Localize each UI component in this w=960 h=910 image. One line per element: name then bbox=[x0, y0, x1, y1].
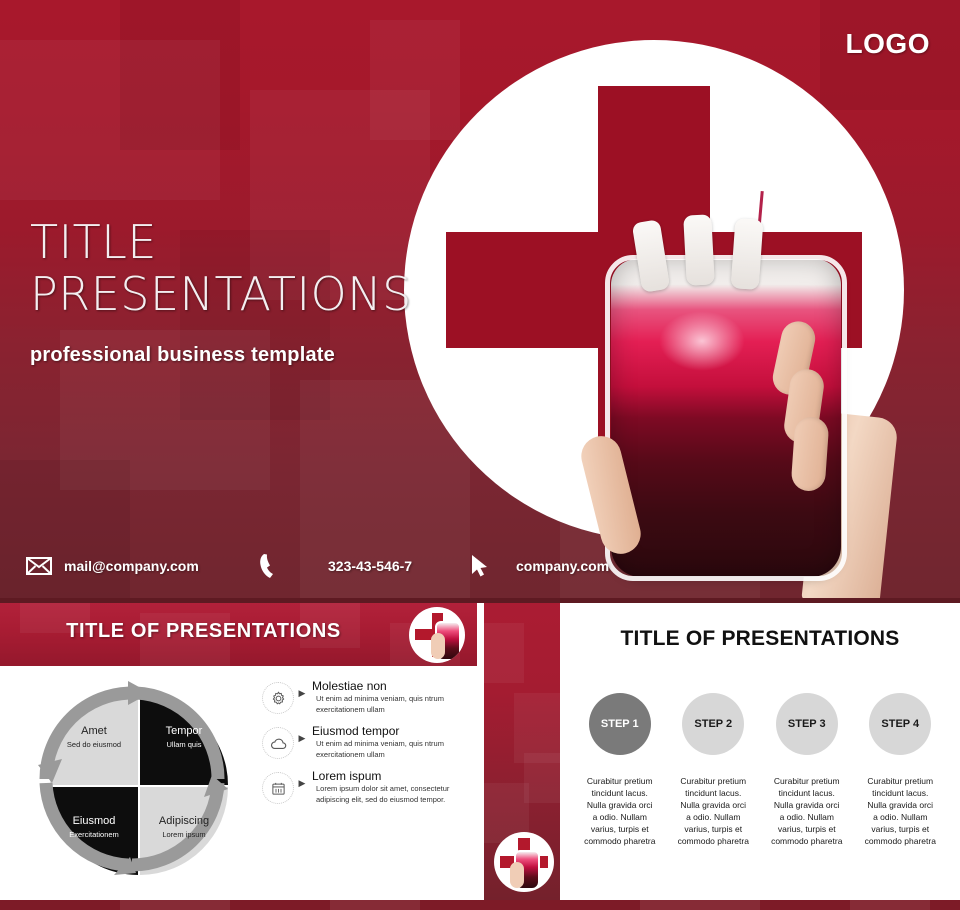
arrow-icon: ▶ bbox=[294, 778, 310, 789]
contact-phone[interactable]: 323-43-546-7 bbox=[258, 545, 412, 587]
contact-website[interactable]: company.com bbox=[470, 545, 609, 587]
step-badge: STEP 2 bbox=[682, 693, 744, 755]
arrow-icon: ▶ bbox=[294, 688, 310, 699]
page-subtitle: professional business template bbox=[30, 344, 335, 367]
bag-port-2 bbox=[683, 214, 715, 285]
title-line-2: PRESENTATIONS bbox=[30, 268, 412, 320]
red-cross-blood-bag-badge-icon bbox=[409, 607, 465, 663]
page-title: TITLE PRESENTATIONS bbox=[30, 216, 412, 320]
cycle-subtitle: Exercitationem bbox=[50, 829, 138, 840]
cursor-icon bbox=[470, 554, 490, 578]
calendar-icon bbox=[262, 772, 294, 804]
step-description: Curabitur pretium tincidunt lacus. Nulla… bbox=[767, 775, 847, 847]
list-item-heading: Molestiae non bbox=[312, 679, 474, 694]
slide-deck-preview: LOGO TITLE PRESENTATIONS professional bu… bbox=[0, 0, 960, 910]
cycle-arrow-ring bbox=[32, 679, 232, 879]
cycle-subtitle: Ullam quis bbox=[140, 739, 228, 750]
cycle-label-bottom-right: Adipiscing Lorem ipsum bbox=[140, 814, 228, 840]
step-item-2[interactable]: STEP 2 Curabitur pretium tincidunt lacus… bbox=[674, 693, 754, 847]
slide-left-header: TITLE OF PRESENTATIONS bbox=[0, 603, 477, 666]
cloud-icon bbox=[262, 727, 294, 759]
slide-right-title: TITLE OF PRESENTATIONS bbox=[560, 627, 960, 651]
contact-phone-value: 323-43-546-7 bbox=[328, 558, 412, 574]
hand-fingers bbox=[773, 321, 865, 521]
cycle-title: Eiusmod bbox=[50, 814, 138, 828]
cycle-label-bottom-left: Eiusmod Exercitationem bbox=[50, 814, 138, 840]
step-description: Curabitur pretium tincidunt lacus. Nulla… bbox=[674, 775, 754, 847]
step-badge: STEP 3 bbox=[776, 693, 838, 755]
title-line-1: TITLE bbox=[30, 215, 157, 269]
cycle-subtitle: Sed do eiusmod bbox=[50, 739, 138, 750]
cycle-label-top-right: Tempor Ullam quis bbox=[140, 724, 228, 750]
phone-icon bbox=[258, 553, 278, 579]
cycle-title: Tempor bbox=[140, 724, 228, 738]
title-slide[interactable]: LOGO TITLE PRESENTATIONS professional bu… bbox=[0, 0, 960, 598]
list-item[interactable]: ▶ Eiusmod tempor Ut enim ad minima venia… bbox=[262, 724, 474, 760]
cycle-label-top-left: Amet Sed do eiusmod bbox=[50, 724, 138, 750]
gear-icon bbox=[262, 682, 294, 714]
cycle-title: Amet bbox=[50, 724, 138, 738]
step-badge: STEP 1 bbox=[589, 693, 651, 755]
slide-left-title: TITLE OF PRESENTATIONS bbox=[0, 620, 477, 643]
list-item[interactable]: ▶ Molestiae non Ut enim ad minima veniam… bbox=[262, 679, 474, 715]
footer-strip bbox=[0, 900, 960, 910]
step-item-4[interactable]: STEP 4 Curabitur pretium tincidunt lacus… bbox=[861, 693, 941, 847]
slide-right-sidebar bbox=[484, 603, 560, 900]
blood-bag-photo bbox=[575, 215, 905, 598]
list-item-heading: Lorem ispum bbox=[312, 769, 474, 784]
list-item-description: Ut enim ad minima veniam, quis ntrum exe… bbox=[312, 739, 474, 760]
step-item-1[interactable]: STEP 1 Curabitur pretium tincidunt lacus… bbox=[580, 693, 660, 847]
steps-row: STEP 1 Curabitur pretium tincidunt lacus… bbox=[580, 693, 940, 847]
list-item-heading: Eiusmod tempor bbox=[312, 724, 474, 739]
step-badge: STEP 4 bbox=[869, 693, 931, 755]
bag-port-3 bbox=[731, 218, 764, 290]
envelope-icon bbox=[26, 557, 52, 575]
step-description: Curabitur pretium tincidunt lacus. Nulla… bbox=[580, 775, 660, 847]
cycle-diagram: Amet Sed do eiusmod Tempor Ullam quis Ei… bbox=[28, 677, 253, 887]
step-item-3[interactable]: STEP 3 Curabitur pretium tincidunt lacus… bbox=[767, 693, 847, 847]
contact-email[interactable]: mail@company.com bbox=[26, 545, 199, 587]
bullet-list: ▶ Molestiae non Ut enim ad minima veniam… bbox=[262, 679, 474, 814]
cycle-subtitle: Lorem ipsum bbox=[140, 829, 228, 840]
contact-bar: mail@company.com 323-43-546-7 bbox=[0, 545, 700, 587]
slide-thumbnail-left[interactable]: TITLE OF PRESENTATIONS Ame bbox=[0, 603, 477, 900]
arrow-icon: ▶ bbox=[294, 733, 310, 744]
list-item[interactable]: ▶ Lorem ispum Lorem ipsum dolor sit amet… bbox=[262, 769, 474, 805]
list-item-description: Lorem ipsum dolor sit amet, consectetur … bbox=[312, 784, 474, 805]
contact-email-value: mail@company.com bbox=[64, 558, 199, 574]
red-cross-blood-bag-badge-icon bbox=[494, 832, 554, 892]
step-description: Curabitur pretium tincidunt lacus. Nulla… bbox=[861, 775, 941, 847]
contact-website-value: company.com bbox=[516, 558, 609, 574]
finger-3 bbox=[790, 416, 829, 492]
logo-text[interactable]: LOGO bbox=[846, 28, 930, 60]
slide-gap bbox=[477, 603, 484, 910]
cycle-title: Adipiscing bbox=[140, 814, 228, 828]
slide-thumbnail-right[interactable]: TITLE OF PRESENTATIONS STEP 1 Curabitur … bbox=[484, 603, 960, 900]
list-item-description: Ut enim ad minima veniam, quis ntrum exe… bbox=[312, 694, 474, 715]
